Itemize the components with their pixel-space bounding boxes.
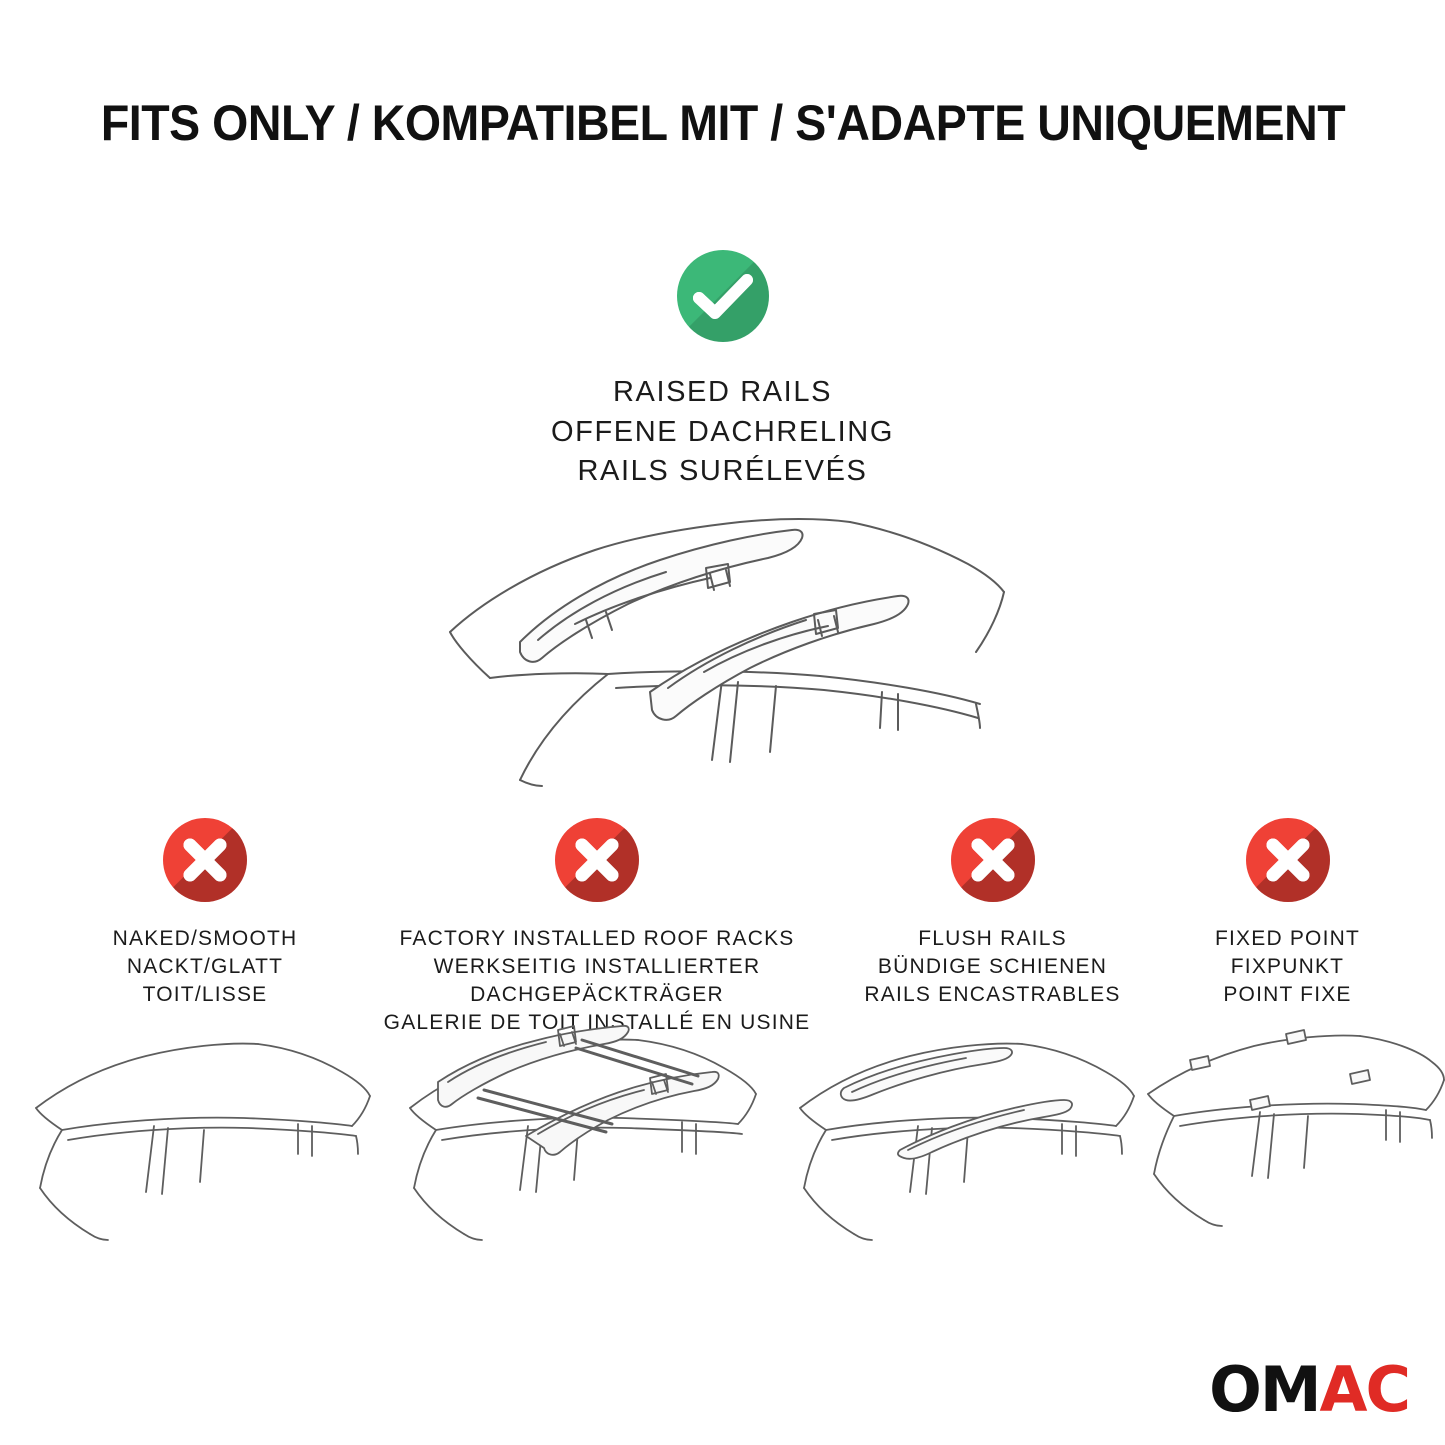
- compatible-label: RAISED RAILS OFFENE DACHRELING RAILS SUR…: [0, 373, 1445, 492]
- not-compatible-label: FIXED POINT FIXPUNKT POINT FIXE: [1160, 925, 1415, 1009]
- label-line-fr: POINT FIXE: [1160, 981, 1415, 1009]
- x-circle-icon: [555, 818, 639, 902]
- x-circle-icon: [1246, 818, 1330, 902]
- label-line-en: FACTORY INSTALLED ROOF RACKS: [372, 925, 822, 953]
- page-title-text: FITS ONLY / KOMPATIBEL MIT / S'ADAPTE UN…: [100, 96, 1344, 150]
- not-compatible-item-fixed-point: FIXED POINT FIXPUNKT POINT FIXE: [1160, 818, 1415, 1009]
- label-line-de-2: DACHGEPÄCKTRÄGER: [372, 981, 822, 1009]
- car-roof-fixed-point-illustration: [1140, 1022, 1445, 1252]
- not-compatible-item-naked-smooth: NAKED/SMOOTH NACKT/GLATT TOIT/LISSE: [40, 818, 370, 1009]
- compatible-label-line-fr: RAILS SURÉLEVÉS: [0, 452, 1445, 492]
- label-line-en: FIXED POINT: [1160, 925, 1415, 953]
- label-line-de: BÜNDIGE SCHIENEN: [830, 953, 1155, 981]
- compatible-section: RAISED RAILS OFFENE DACHRELING RAILS SUR…: [0, 250, 1445, 492]
- check-circle-icon: [677, 250, 769, 342]
- not-compatible-label: NAKED/SMOOTH NACKT/GLATT TOIT/LISSE: [40, 925, 370, 1009]
- label-line-en: NAKED/SMOOTH: [40, 925, 370, 953]
- logo-text-om: OM: [1209, 1353, 1319, 1426]
- car-roof-naked-smooth-illustration: [18, 1022, 388, 1252]
- label-line-de: FIXPUNKT: [1160, 953, 1415, 981]
- infographic-page: FITS ONLY / KOMPATIBEL MIT / S'ADAPTE UN…: [0, 0, 1445, 1445]
- x-circle-icon: [951, 818, 1035, 902]
- car-roof-raised-rails-illustration: [420, 492, 1020, 792]
- page-title: FITS ONLY / KOMPATIBEL MIT / S'ADAPTE UN…: [0, 96, 1445, 150]
- not-compatible-item-factory-racks: FACTORY INSTALLED ROOF RACKS WERKSEITIG …: [372, 818, 822, 1037]
- logo-text-ac: AC: [1320, 1353, 1409, 1426]
- car-roof-flush-rails-illustration: [782, 1022, 1152, 1252]
- car-roof-factory-racks-illustration: [400, 1012, 775, 1242]
- compatible-label-line-de: OFFENE DACHRELING: [0, 413, 1445, 453]
- label-line-fr: TOIT/LISSE: [40, 981, 370, 1009]
- label-line-fr: RAILS ENCASTRABLES: [830, 981, 1155, 1009]
- label-line-en: FLUSH RAILS: [830, 925, 1155, 953]
- not-compatible-label: FLUSH RAILS BÜNDIGE SCHIENEN RAILS ENCAS…: [830, 925, 1155, 1009]
- label-line-de-1: WERKSEITIG INSTALLIERTER: [372, 953, 822, 981]
- compatible-label-line-en: RAISED RAILS: [0, 373, 1445, 413]
- x-circle-icon: [163, 818, 247, 902]
- omac-logo: OMAC: [1209, 1359, 1409, 1421]
- not-compatible-item-flush-rails: FLUSH RAILS BÜNDIGE SCHIENEN RAILS ENCAS…: [830, 818, 1155, 1009]
- label-line-de: NACKT/GLATT: [40, 953, 370, 981]
